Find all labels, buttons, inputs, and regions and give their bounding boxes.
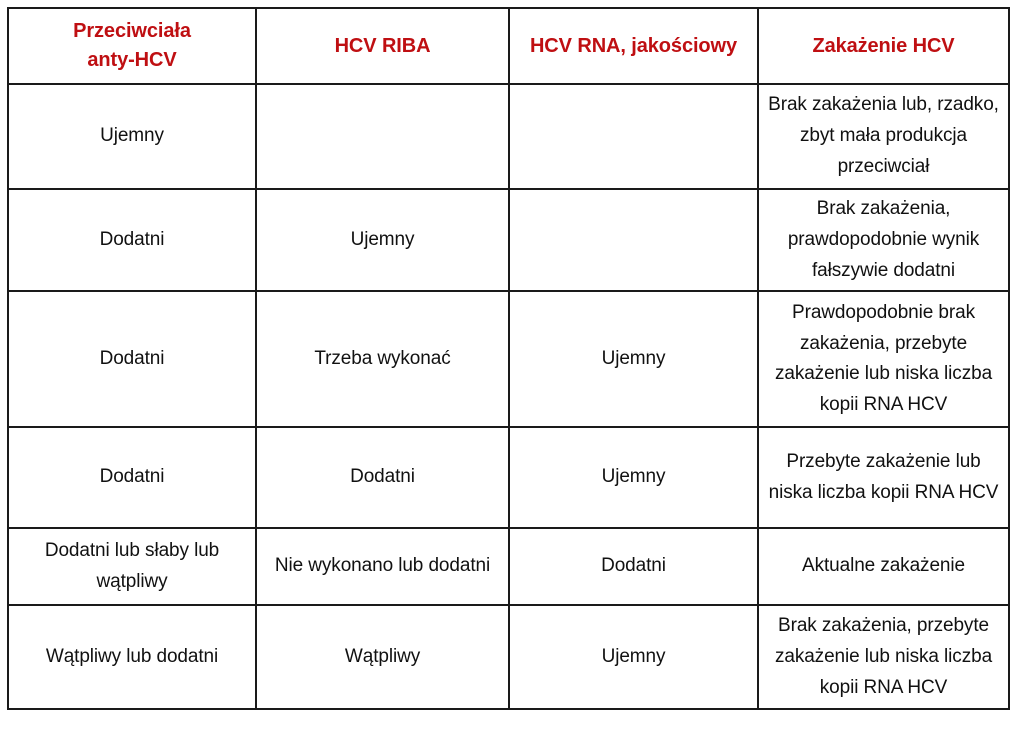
document-page: Przeciwciała anty-HCV HCV RIBA HCV RNA, … [0, 0, 1015, 736]
cell-hcv-rna [509, 189, 758, 291]
cell-hcv-riba: Ujemny [256, 189, 509, 291]
column-header-anty-hcv: Przeciwciała anty-HCV [8, 8, 256, 84]
cell-hcv-rna [509, 84, 758, 189]
cell-hcv-riba: Nie wykonano lub dodatni [256, 528, 509, 605]
table-header-row: Przeciwciała anty-HCV HCV RIBA HCV RNA, … [8, 8, 1009, 84]
cell-anty-hcv: Ujemny [8, 84, 256, 189]
table-row: Wątpliwy lub dodatni Wątpliwy Ujemny Bra… [8, 605, 1009, 709]
column-header-hcv-rna: HCV RNA, jakościowy [509, 8, 758, 84]
cell-anty-hcv: Dodatni [8, 189, 256, 291]
cell-hcv-riba [256, 84, 509, 189]
cell-anty-hcv: Wątpliwy lub dodatni [8, 605, 256, 709]
column-header-anty-hcv-line2: anty-HCV [17, 46, 247, 75]
cell-anty-hcv: Dodatni [8, 291, 256, 427]
cell-zakazenie: Prawdopodobnie brak zakażenia, przebyte … [758, 291, 1009, 427]
cell-zakazenie: Brak zakażenia, prawdopodobnie wynik fał… [758, 189, 1009, 291]
hcv-interpretation-table: Przeciwciała anty-HCV HCV RIBA HCV RNA, … [7, 7, 1010, 710]
column-header-zakazenie-hcv: Zakażenie HCV [758, 8, 1009, 84]
column-header-anty-hcv-line1: Przeciwciała [17, 17, 247, 46]
cell-zakazenie: Przebyte zakażenie lub niska liczba kopi… [758, 427, 1009, 528]
cell-hcv-rna: Ujemny [509, 291, 758, 427]
table-row: Dodatni Trzeba wykonać Ujemny Prawdopodo… [8, 291, 1009, 427]
table-row: Dodatni Ujemny Brak zakażenia, prawdopod… [8, 189, 1009, 291]
table-header: Przeciwciała anty-HCV HCV RIBA HCV RNA, … [8, 8, 1009, 84]
cell-anty-hcv: Dodatni [8, 427, 256, 528]
table-body: Ujemny Brak zakażenia lub, rzadko, zbyt … [8, 84, 1009, 709]
cell-hcv-rna: Ujemny [509, 605, 758, 709]
cell-zakazenie: Brak zakażenia lub, rzadko, zbyt mała pr… [758, 84, 1009, 189]
cell-zakazenie: Aktualne zakażenie [758, 528, 1009, 605]
cell-hcv-riba: Wątpliwy [256, 605, 509, 709]
cell-zakazenie: Brak zakażenia, przebyte zakażenie lub n… [758, 605, 1009, 709]
cell-anty-hcv: Dodatni lub słaby lub wątpliwy [8, 528, 256, 605]
table-row: Dodatni Dodatni Ujemny Przebyte zakażeni… [8, 427, 1009, 528]
table-row: Ujemny Brak zakażenia lub, rzadko, zbyt … [8, 84, 1009, 189]
cell-hcv-rna: Dodatni [509, 528, 758, 605]
cell-hcv-riba: Dodatni [256, 427, 509, 528]
cell-hcv-riba: Trzeba wykonać [256, 291, 509, 427]
cell-hcv-rna: Ujemny [509, 427, 758, 528]
table-row: Dodatni lub słaby lub wątpliwy Nie wykon… [8, 528, 1009, 605]
column-header-hcv-riba: HCV RIBA [256, 8, 509, 84]
